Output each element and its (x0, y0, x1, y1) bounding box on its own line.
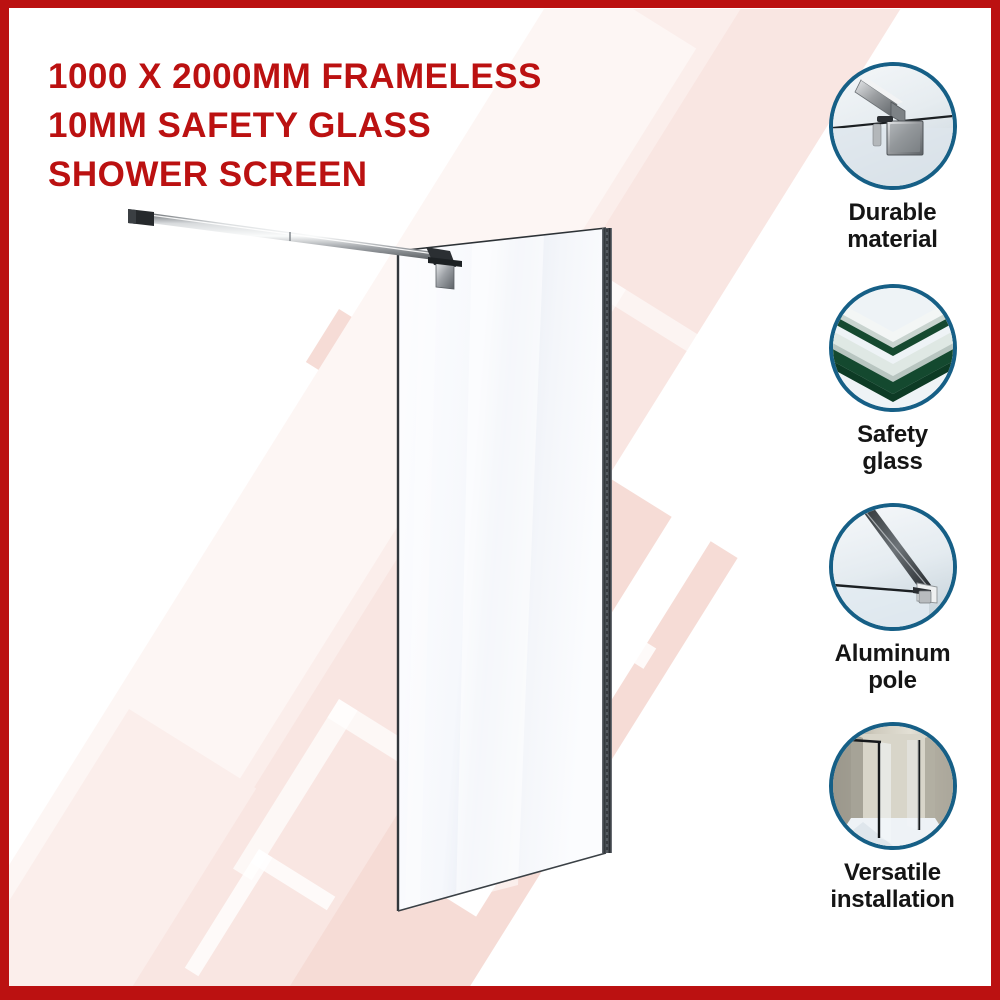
feature-item-durable-material[interactable]: Durable material (795, 62, 990, 253)
feature-label-versatile-installation: Versatile installation (830, 859, 954, 913)
wall-mount-bracket-face (128, 209, 136, 224)
feature-label-line2: glass (857, 448, 928, 475)
feature-label-line2: material (847, 226, 937, 253)
frame-border-bottom (0, 986, 1000, 1000)
feature-item-safety-glass[interactable]: Safety glass (795, 284, 990, 475)
glass-clamp (436, 263, 454, 289)
frame-border-top (0, 0, 1000, 8)
feature-label-line1: Durable (847, 199, 937, 226)
feature-item-aluminum-pole[interactable]: Aluminum pole (795, 503, 990, 694)
feature-item-versatile-installation[interactable]: Versatile installation (795, 722, 990, 913)
laminated-glass-layers-icon (829, 284, 957, 412)
feature-label-line2: installation (830, 886, 954, 913)
feature-label-line1: Safety (857, 421, 928, 448)
feature-label-line1: Versatile (830, 859, 954, 886)
feature-label-safety-glass: Safety glass (857, 421, 928, 475)
product-title: 1000 X 2000MM FRAMELESS 10MM SAFETY GLAS… (48, 52, 668, 199)
shower-enclosure-room-icon (829, 722, 957, 850)
product-banner: 1000 X 2000MM FRAMELESS 10MM SAFETY GLAS… (0, 0, 1000, 1000)
title-line-1: 1000 X 2000MM FRAMELESS (48, 52, 668, 101)
feature-label-aluminum-pole: Aluminum pole (835, 640, 951, 694)
feature-label-durable-material: Durable material (847, 199, 937, 253)
glass-clamp-bracket-icon (829, 62, 957, 190)
frame-border-right (991, 0, 1000, 1000)
product-image (120, 185, 660, 925)
feature-label-line1: Aluminum (835, 640, 951, 667)
feature-list: Durable material (795, 62, 990, 913)
frame-border-left (0, 0, 9, 1000)
feature-label-line2: pole (835, 667, 951, 694)
support-pole-bar (150, 213, 442, 261)
title-line-2: 10MM SAFETY GLASS (48, 101, 668, 150)
title-line-3: SHOWER SCREEN (48, 150, 668, 199)
pole-highlight (150, 215, 442, 255)
aluminum-support-pole-icon (829, 503, 957, 631)
